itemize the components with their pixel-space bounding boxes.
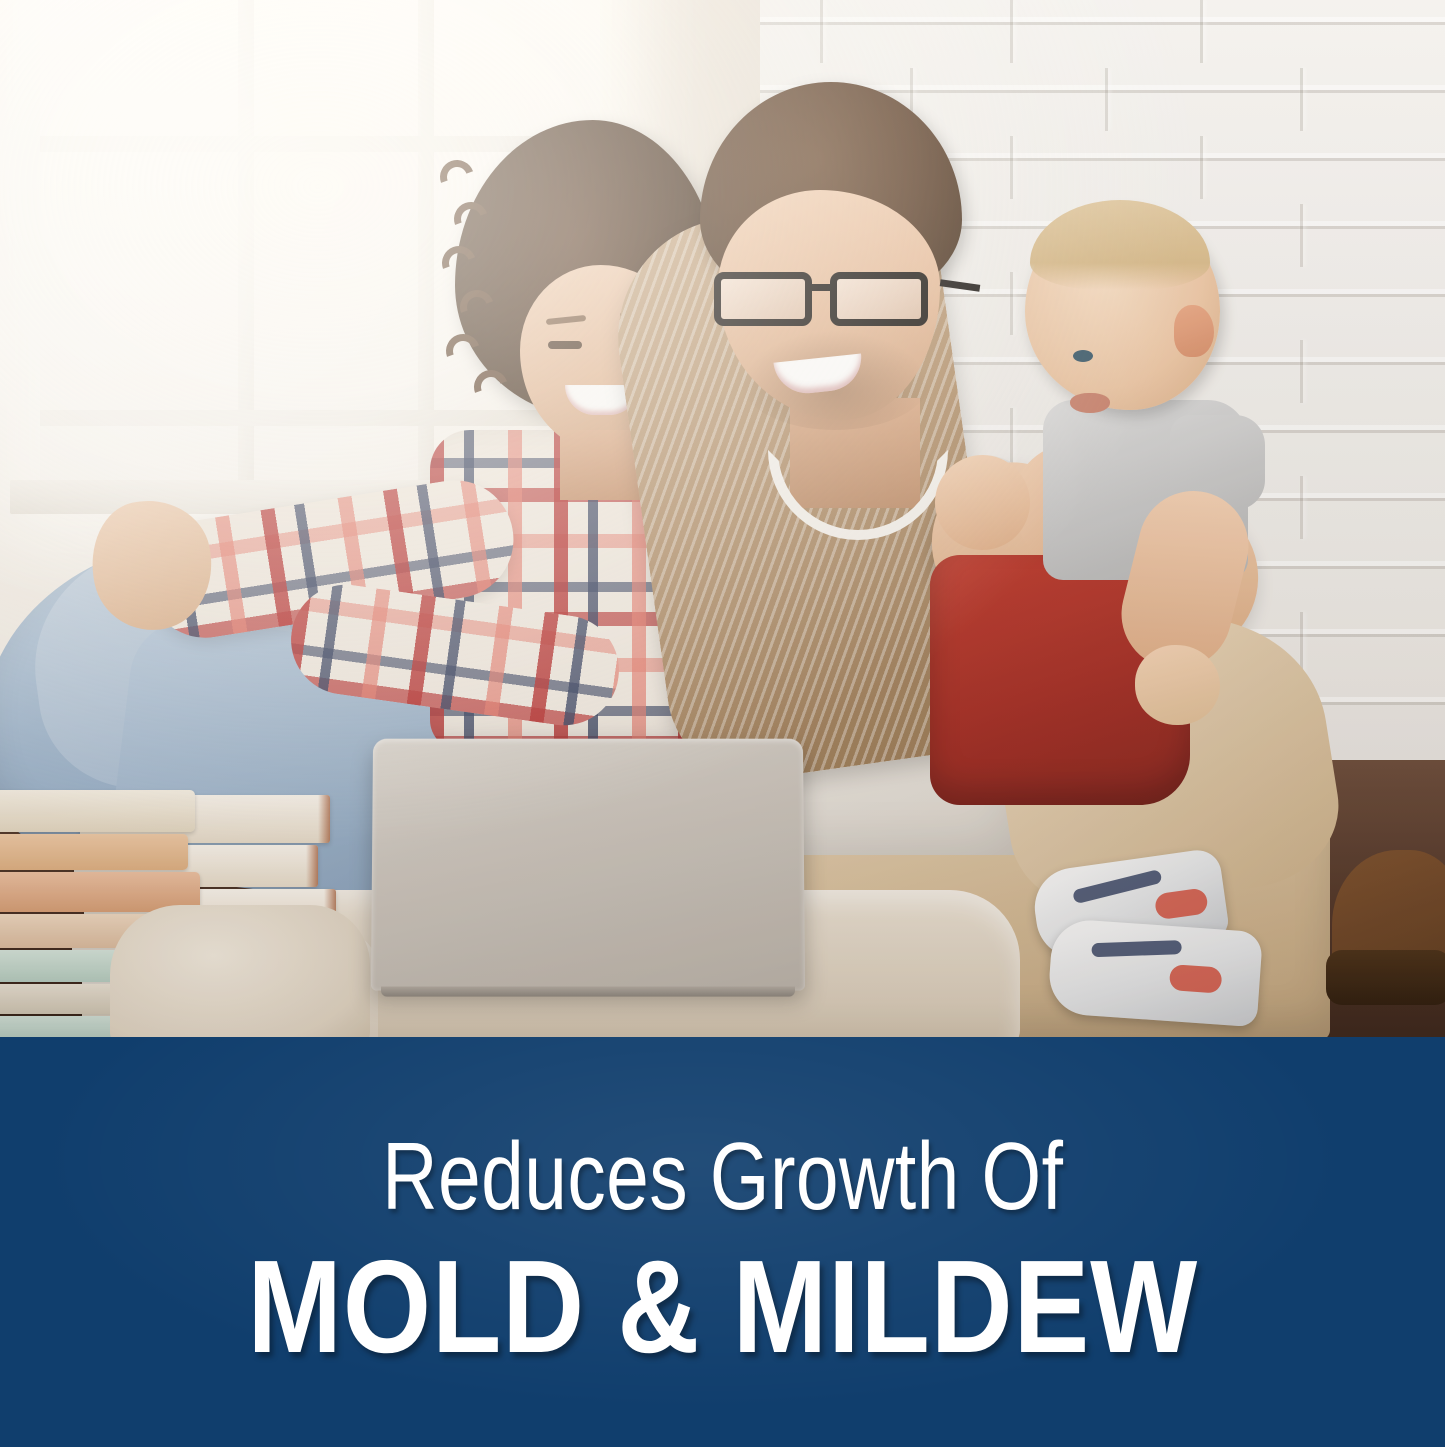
product-feature-banner: Reduces Growth Of MOLD & MILDEW — [0, 0, 1445, 1447]
laptop-hinge — [381, 987, 795, 997]
baby-eye — [1073, 350, 1093, 362]
sneaker-right — [1047, 918, 1263, 1027]
caption-band: Reduces Growth Of MOLD & MILDEW — [0, 1037, 1445, 1447]
baby-mouth — [1070, 393, 1110, 413]
baby-ear — [1174, 305, 1214, 357]
man-boot-sole — [1326, 950, 1445, 1005]
eyeglasses-icon — [714, 272, 946, 330]
caption-line-headline: MOLD & MILDEW — [247, 1241, 1198, 1373]
caption-line-primary: Reduces Growth Of — [382, 1129, 1063, 1225]
lifestyle-photo — [0, 0, 1445, 1037]
laptop — [371, 739, 805, 991]
baby-hand — [1135, 645, 1220, 725]
cushion-pillow — [110, 905, 370, 1037]
baby-fist — [935, 455, 1030, 550]
